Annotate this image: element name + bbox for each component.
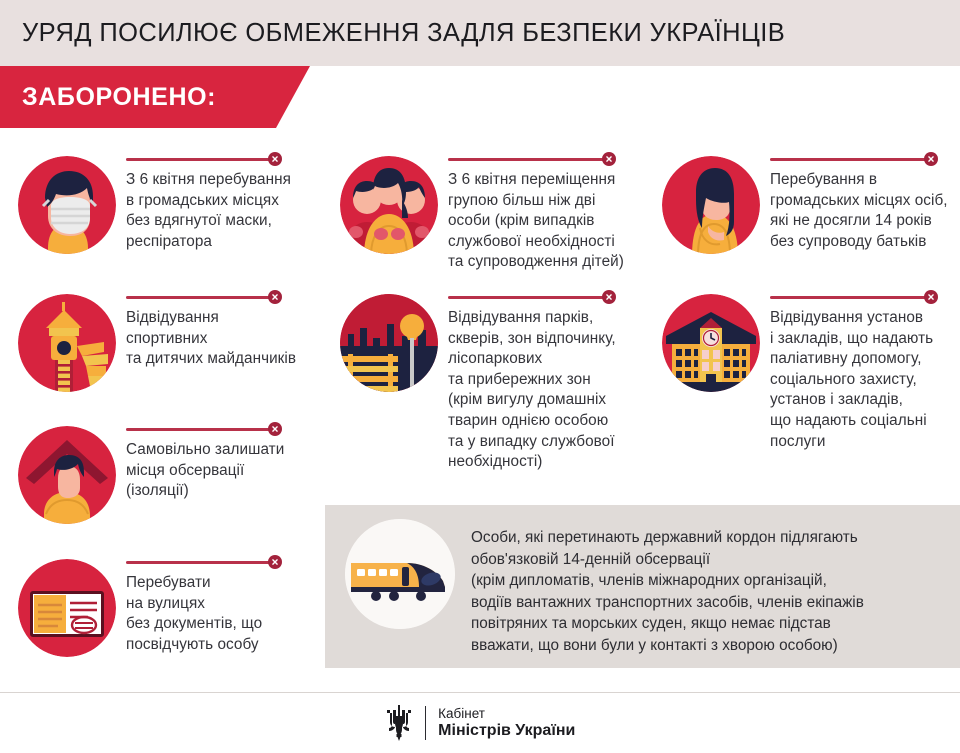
train-icon xyxy=(345,519,455,629)
footer-line2: Міністрів України xyxy=(438,722,575,740)
header-band: УРЯД ПОСИЛЮЄ ОБМЕЖЕННЯ ЗАДЛЯ БЕЗПЕКИ УКР… xyxy=(0,0,960,66)
connector-rule xyxy=(448,290,653,304)
restriction-text: Відвідування спортивних та дитячих майда… xyxy=(126,308,316,370)
forbidden-banner: ЗАБОРОНЕНО: xyxy=(0,66,310,128)
note-text: Особи, які перетинають державний кордон … xyxy=(471,527,864,656)
ukrainian-trident-emblem-icon xyxy=(385,704,413,742)
prohibition-x-icon xyxy=(268,555,282,569)
playground-slide-icon xyxy=(18,294,116,392)
child-under-14-icon xyxy=(662,156,760,254)
connector-rule xyxy=(770,290,960,304)
page-title: УРЯД ПОСИЛЮЄ ОБМЕЖЕННЯ ЗАДЛЯ БЕЗПЕКИ УКР… xyxy=(22,19,785,48)
connector-line xyxy=(126,428,274,431)
connector-line xyxy=(448,158,608,161)
restriction-item: Самовільно залишати місця обсервації (із… xyxy=(0,420,322,524)
connector-rule xyxy=(126,290,322,304)
restriction-text: З 6 квітня перебування в громадських міс… xyxy=(126,170,316,252)
prohibition-x-icon xyxy=(268,152,282,166)
prohibition-x-icon xyxy=(268,422,282,436)
connector-line xyxy=(126,561,274,564)
connector-line xyxy=(448,296,608,299)
border-crossing-note: Особи, які перетинають державний кордон … xyxy=(325,505,960,668)
connector-rule xyxy=(126,555,322,569)
restriction-item: Відвідування парків, скверів, зон відпоч… xyxy=(322,288,644,473)
connector-rule xyxy=(770,152,960,166)
prohibition-x-icon xyxy=(602,152,616,166)
restriction-text: З 6 квітня переміщення групою більш ніж … xyxy=(448,170,653,273)
restriction-item: Відвідування спортивних та дитячих майда… xyxy=(0,288,322,392)
prohibition-x-icon xyxy=(924,152,938,166)
footer-line1: Кабінет xyxy=(438,706,575,722)
group-of-three-people-icon xyxy=(340,156,438,254)
restriction-text: Самовільно залишати місця обсервації (із… xyxy=(126,440,316,502)
restriction-item: З 6 квітня перебування в громадських міс… xyxy=(0,150,322,254)
connector-line xyxy=(770,158,930,161)
person-leaving-home-icon xyxy=(18,426,116,524)
restriction-text: Відвідування установ і закладів, що нада… xyxy=(770,308,960,452)
restriction-item: Перебувати на вулицях без документів, що… xyxy=(0,553,322,657)
restriction-text: Перебування в громадських місцях осіб, я… xyxy=(770,170,960,252)
restriction-item: Відвідування установ і закладів, що нада… xyxy=(644,288,960,452)
restriction-item: Перебування в громадських місцях осіб, я… xyxy=(644,150,960,254)
restriction-text: Відвідування парків, скверів, зон відпоч… xyxy=(448,308,653,473)
prohibition-x-icon xyxy=(924,290,938,304)
connector-rule xyxy=(448,152,653,166)
identity-document-icon xyxy=(18,559,116,657)
prohibition-x-icon xyxy=(602,290,616,304)
institution-building-icon xyxy=(662,294,760,392)
person-wearing-face-mask-icon xyxy=(18,156,116,254)
connector-line xyxy=(126,296,274,299)
prohibition-x-icon xyxy=(268,290,282,304)
footer: Кабінет Міністрів України xyxy=(0,693,960,753)
footer-divider-vertical xyxy=(425,706,427,740)
connector-line xyxy=(770,296,930,299)
banner-label: ЗАБОРОНЕНО: xyxy=(22,66,216,128)
connector-rule xyxy=(126,422,322,436)
park-bench-lamp-icon xyxy=(340,294,438,392)
restriction-item: З 6 квітня переміщення групою більш ніж … xyxy=(322,150,644,273)
connector-line xyxy=(126,158,274,161)
restriction-text: Перебувати на вулицях без документів, що… xyxy=(126,573,316,655)
connector-rule xyxy=(126,152,322,166)
